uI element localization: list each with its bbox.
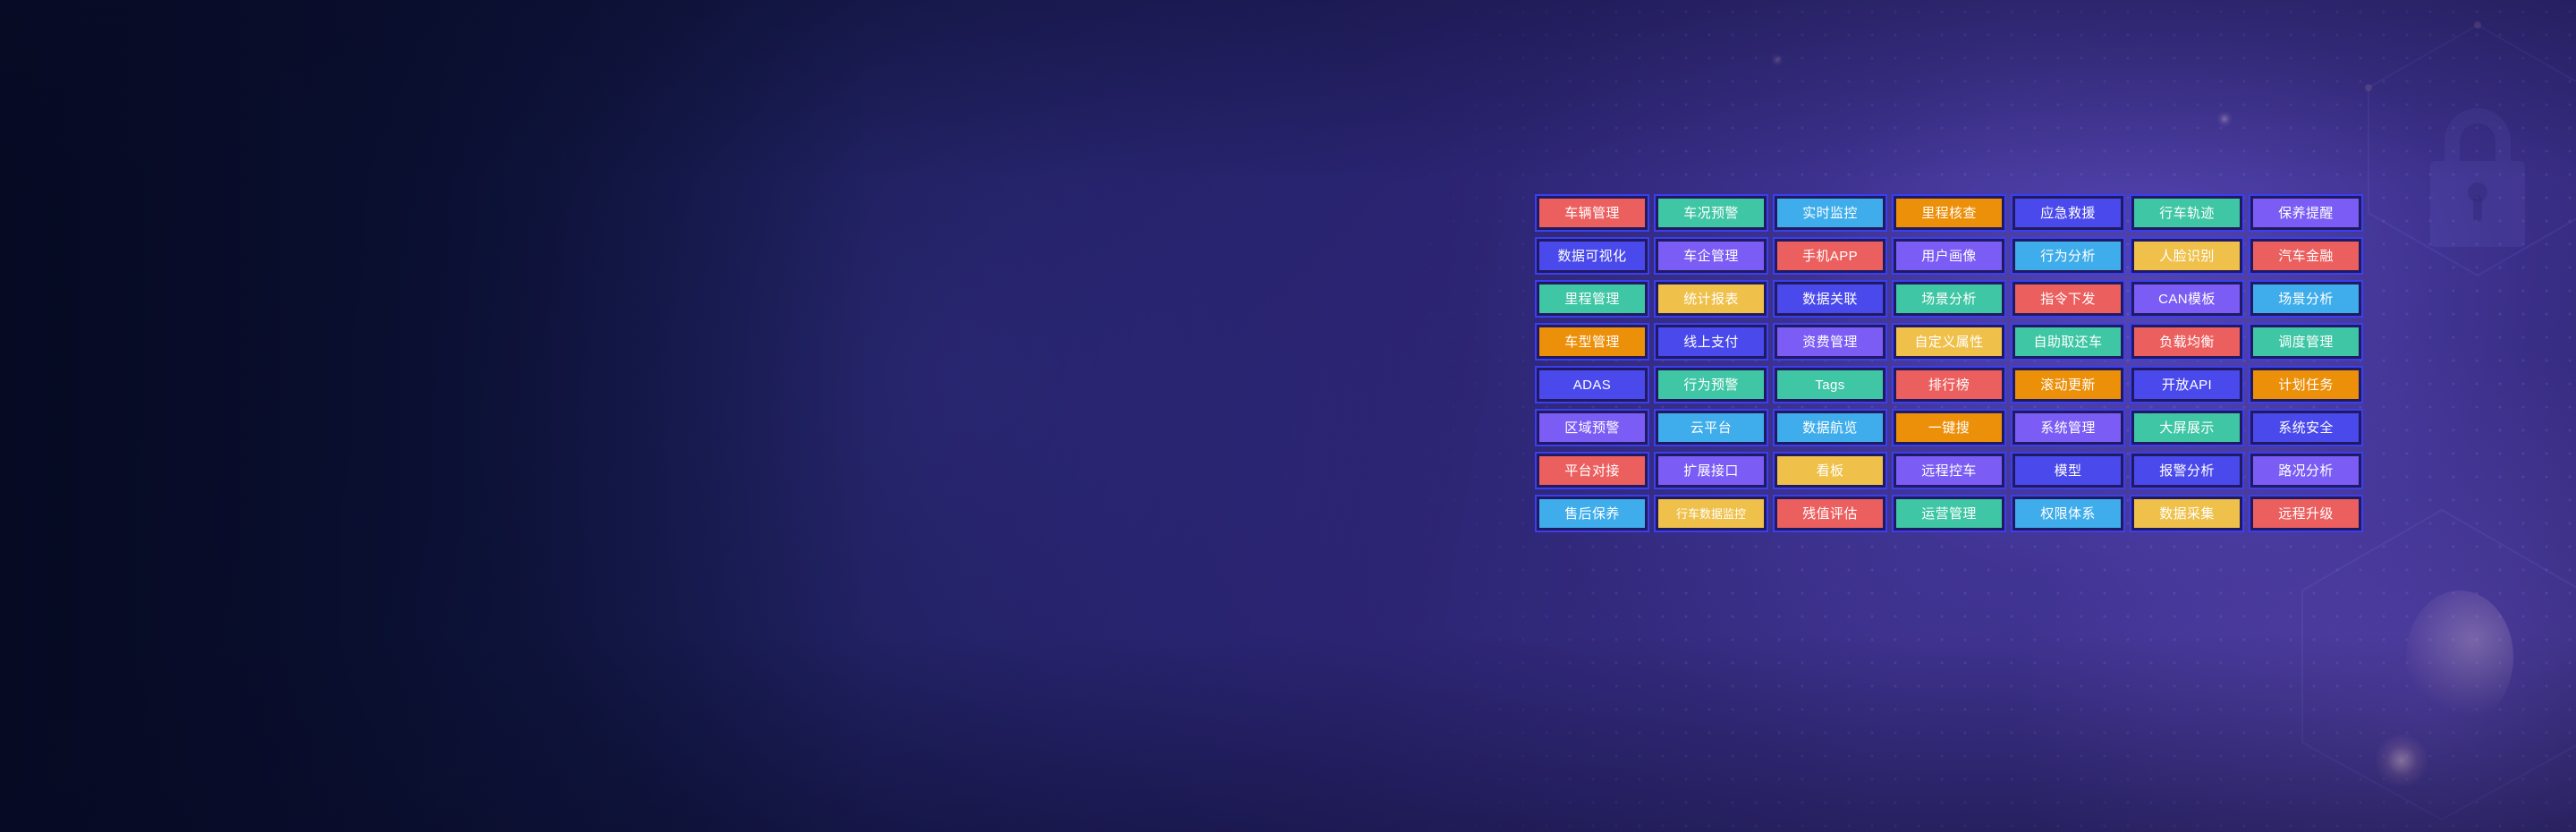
tile-label: 里程管理: [1564, 293, 1620, 306]
capability-tile[interactable]: 车况预警: [1654, 194, 1768, 232]
tile-swatch: 云平台: [1658, 413, 1764, 442]
tile-swatch: 运营管理: [1896, 499, 2002, 528]
capability-tile[interactable]: 一键搜: [1892, 409, 2006, 446]
tile-swatch: 资费管理: [1777, 327, 1883, 356]
capability-tile[interactable]: 大屏展示: [2130, 409, 2244, 446]
tile-label: 滚动更新: [2040, 378, 2096, 392]
tile-label: 实时监控: [1802, 207, 1858, 220]
tile-label: 路况分析: [2278, 464, 2334, 478]
tile-label: 报警分析: [2159, 464, 2215, 478]
tile-swatch: 调度管理: [2253, 327, 2359, 356]
tile-swatch: 统计报表: [1658, 284, 1764, 313]
tile-swatch: 场景分析: [2253, 284, 2359, 313]
tile-label: 行车数据监控: [1676, 508, 1746, 520]
capability-tile[interactable]: 计划任务: [2249, 366, 2363, 403]
tile-swatch: ADAS: [1539, 370, 1645, 399]
tile-swatch: Tags: [1777, 370, 1883, 399]
capability-tile[interactable]: 数据航览: [1773, 409, 1887, 446]
tile-label: 车企管理: [1683, 250, 1739, 263]
tile-swatch: 行车轨迹: [2134, 199, 2240, 227]
tile-swatch: 大屏展示: [2134, 413, 2240, 442]
capability-tile[interactable]: 用户画像: [1892, 237, 2006, 275]
tile-label: 自助取还车: [2033, 335, 2102, 349]
tile-label: 资费管理: [1802, 335, 1858, 349]
capability-tile-grid: 车辆管理车况预警实时监控里程核查应急救援行车轨迹保养提醒数据可视化车企管理手机A…: [1535, 194, 2363, 532]
tile-label: CAN模板: [2158, 293, 2216, 306]
capability-tile[interactable]: 场景分析: [2249, 280, 2363, 318]
tile-swatch: 权限体系: [2015, 499, 2121, 528]
tile-swatch: 车型管理: [1539, 327, 1645, 356]
tile-label: 自定义属性: [1914, 335, 1983, 349]
tile-swatch: 应急救援: [2015, 199, 2121, 227]
capability-tile[interactable]: 模型: [2011, 452, 2125, 489]
tile-swatch: 线上支付: [1658, 327, 1764, 356]
capability-tile[interactable]: 看板: [1773, 452, 1887, 489]
tile-swatch: 系统管理: [2015, 413, 2121, 442]
capability-tile[interactable]: 区域预警: [1535, 409, 1649, 446]
capability-tile[interactable]: 权限体系: [2011, 495, 2125, 532]
tile-swatch: 售后保养: [1539, 499, 1645, 528]
capability-tile[interactable]: 残值评估: [1773, 495, 1887, 532]
tile-swatch: 里程管理: [1539, 284, 1645, 313]
tile-swatch: 报警分析: [2134, 456, 2240, 485]
tile-label: 保养提醒: [2278, 207, 2334, 220]
capability-tile[interactable]: 运营管理: [1892, 495, 2006, 532]
tile-swatch: 残值评估: [1777, 499, 1883, 528]
tile-label: 大屏展示: [2159, 421, 2215, 435]
tile-swatch: 数据航览: [1777, 413, 1883, 442]
tile-swatch: 场景分析: [1896, 284, 2002, 313]
tile-swatch: 区域预警: [1539, 413, 1645, 442]
tile-label: 看板: [1817, 464, 1844, 478]
tile-swatch: 扩展接口: [1658, 456, 1764, 485]
capability-tile[interactable]: 指令下发: [2011, 280, 2125, 318]
tile-label: 手机APP: [1802, 250, 1858, 263]
tile-label: 一键搜: [1928, 421, 1970, 435]
capability-tile[interactable]: 数据关联: [1773, 280, 1887, 318]
capability-tile[interactable]: CAN模板: [2130, 280, 2244, 318]
capability-tile[interactable]: 负载均衡: [2130, 323, 2244, 361]
tile-label: 开放API: [2162, 378, 2212, 392]
tile-swatch: 车辆管理: [1539, 199, 1645, 227]
capability-tile[interactable]: 行为预警: [1654, 366, 1768, 403]
tile-swatch: 指令下发: [2015, 284, 2121, 313]
capability-tile[interactable]: 开放API: [2130, 366, 2244, 403]
tile-label: 云平台: [1690, 421, 1732, 435]
capability-tile[interactable]: 汽车金融: [2249, 237, 2363, 275]
tile-label: Tags: [1815, 378, 1844, 392]
capability-tile[interactable]: 自定义属性: [1892, 323, 2006, 361]
tile-label: 车况预警: [1683, 207, 1739, 220]
tile-swatch: 一键搜: [1896, 413, 2002, 442]
tile-swatch: 远程升级: [2253, 499, 2359, 528]
capability-tile[interactable]: 扩展接口: [1654, 452, 1768, 489]
tile-label: 车辆管理: [1564, 207, 1620, 220]
capability-tile[interactable]: 应急救援: [2011, 194, 2125, 232]
tile-swatch: 数据采集: [2134, 499, 2240, 528]
tile-swatch: 用户画像: [1896, 242, 2002, 270]
capability-tile[interactable]: 系统安全: [2249, 409, 2363, 446]
capability-tile[interactable]: 手机APP: [1773, 237, 1887, 275]
tile-label: 数据可视化: [1557, 250, 1626, 263]
tile-swatch: 行车数据监控: [1658, 499, 1764, 528]
capability-tile[interactable]: 线上支付: [1654, 323, 1768, 361]
tile-swatch: 负载均衡: [2134, 327, 2240, 356]
capability-tile[interactable]: 行为分析: [2011, 237, 2125, 275]
tile-swatch: 路况分析: [2253, 456, 2359, 485]
capability-tile[interactable]: 里程核查: [1892, 194, 2006, 232]
tile-swatch: 看板: [1777, 456, 1883, 485]
capability-tile[interactable]: Tags: [1773, 366, 1887, 403]
tile-label: 车型管理: [1564, 335, 1620, 349]
capability-tile[interactable]: 车辆管理: [1535, 194, 1649, 232]
capability-tile[interactable]: 里程管理: [1535, 280, 1649, 318]
tile-swatch: 人脸识别: [2134, 242, 2240, 270]
tile-swatch: 数据关联: [1777, 284, 1883, 313]
tile-swatch: 行为预警: [1658, 370, 1764, 399]
tile-swatch: 平台对接: [1539, 456, 1645, 485]
tile-label: 残值评估: [1802, 507, 1858, 521]
tile-label: 计划任务: [2278, 378, 2334, 392]
capability-tile[interactable]: 实时监控: [1773, 194, 1887, 232]
tile-label: 线上支付: [1683, 335, 1739, 349]
tile-label: ADAS: [1573, 378, 1611, 392]
tile-label: 汽车金融: [2278, 250, 2334, 263]
tile-label: 系统安全: [2278, 421, 2334, 435]
capability-tile[interactable]: 售后保养: [1535, 495, 1649, 532]
tile-swatch: 滚动更新: [2015, 370, 2121, 399]
capability-tile[interactable]: 行车数据监控: [1654, 495, 1768, 532]
capability-tile[interactable]: ADAS: [1535, 366, 1649, 403]
tile-swatch: 车况预警: [1658, 199, 1764, 227]
capability-tile[interactable]: 自助取还车: [2011, 323, 2125, 361]
capability-tile[interactable]: 数据可视化: [1535, 237, 1649, 275]
tile-label: 负载均衡: [2159, 335, 2215, 349]
tile-swatch: 行为分析: [2015, 242, 2121, 270]
capability-tile[interactable]: 云平台: [1654, 409, 1768, 446]
tile-label: 远程升级: [2278, 507, 2334, 521]
tile-label: 用户画像: [1921, 250, 1977, 263]
tile-label: 平台对接: [1564, 464, 1620, 478]
tile-swatch: 自定义属性: [1896, 327, 2002, 356]
tile-label: 里程核查: [1921, 207, 1977, 220]
tile-label: 应急救援: [2040, 207, 2096, 220]
capability-tile[interactable]: 场景分析: [1892, 280, 2006, 318]
capability-tile[interactable]: 车型管理: [1535, 323, 1649, 361]
capability-tile[interactable]: 排行榜: [1892, 366, 2006, 403]
capability-tile[interactable]: 系统管理: [2011, 409, 2125, 446]
capability-tile[interactable]: 路况分析: [2249, 452, 2363, 489]
tile-label: 场景分析: [1921, 293, 1977, 306]
capability-tile[interactable]: 远程升级: [2249, 495, 2363, 532]
tile-swatch: 排行榜: [1896, 370, 2002, 399]
capability-tile[interactable]: 统计报表: [1654, 280, 1768, 318]
tile-swatch: 开放API: [2134, 370, 2240, 399]
tile-swatch: 汽车金融: [2253, 242, 2359, 270]
capability-tile[interactable]: 行车轨迹: [2130, 194, 2244, 232]
tile-label: 系统管理: [2040, 421, 2096, 435]
capability-tile[interactable]: 人脸识别: [2130, 237, 2244, 275]
tile-label: 数据采集: [2159, 507, 2215, 521]
tile-label: 人脸识别: [2159, 250, 2215, 263]
capability-tile[interactable]: 报警分析: [2130, 452, 2244, 489]
tile-label: 模型: [2055, 464, 2082, 478]
tile-swatch: 远程控车: [1896, 456, 2002, 485]
capability-tile[interactable]: 数据采集: [2130, 495, 2244, 532]
tile-swatch: 实时监控: [1777, 199, 1883, 227]
tile-label: 调度管理: [2278, 335, 2334, 349]
tile-swatch: 保养提醒: [2253, 199, 2359, 227]
tile-label: 远程控车: [1921, 464, 1977, 478]
tile-label: 行为分析: [2040, 250, 2096, 263]
capability-tile[interactable]: 调度管理: [2249, 323, 2363, 361]
tile-swatch: 计划任务: [2253, 370, 2359, 399]
tile-label: 排行榜: [1928, 378, 1970, 392]
tile-swatch: 系统安全: [2253, 413, 2359, 442]
tile-swatch: 模型: [2015, 456, 2121, 485]
capability-tile[interactable]: 车企管理: [1654, 237, 1768, 275]
tile-label: 运营管理: [1921, 507, 1977, 521]
tile-label: 行车轨迹: [2159, 207, 2215, 220]
capability-tile[interactable]: 平台对接: [1535, 452, 1649, 489]
tile-label: 区域预警: [1564, 421, 1620, 435]
tile-label: 数据关联: [1802, 293, 1858, 306]
tile-label: 扩展接口: [1683, 464, 1739, 478]
tile-label: 数据航览: [1802, 421, 1858, 435]
tile-swatch: 数据可视化: [1539, 242, 1645, 270]
tile-label: 场景分析: [2278, 293, 2334, 306]
capability-tile[interactable]: 资费管理: [1773, 323, 1887, 361]
screen: 车辆管理车况预警实时监控里程核查应急救援行车轨迹保养提醒数据可视化车企管理手机A…: [0, 0, 2576, 832]
tile-label: 指令下发: [2040, 293, 2096, 306]
tile-swatch: 手机APP: [1777, 242, 1883, 270]
tile-label: 权限体系: [2040, 507, 2096, 521]
tile-label: 行为预警: [1683, 378, 1739, 392]
tile-swatch: 里程核查: [1896, 199, 2002, 227]
capability-tile[interactable]: 滚动更新: [2011, 366, 2125, 403]
capability-tile[interactable]: 远程控车: [1892, 452, 2006, 489]
tile-label: 统计报表: [1683, 293, 1739, 306]
tile-swatch: 自助取还车: [2015, 327, 2121, 356]
tile-swatch: 车企管理: [1658, 242, 1764, 270]
tile-label: 售后保养: [1564, 507, 1620, 521]
tile-swatch: CAN模板: [2134, 284, 2240, 313]
capability-tile[interactable]: 保养提醒: [2249, 194, 2363, 232]
